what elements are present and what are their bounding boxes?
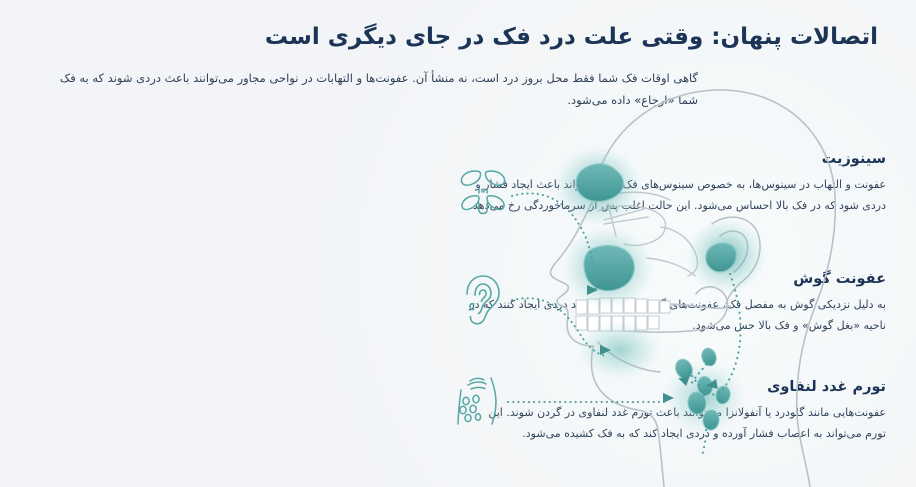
facial-bone-lines [598, 192, 697, 278]
inbound-arrowheads [587, 285, 674, 403]
referral-paths [690, 274, 741, 456]
ear-outline [712, 217, 760, 304]
hotspot-blobs [576, 164, 736, 291]
mandible-outline [593, 287, 730, 372]
blob-ear-tmj [706, 243, 736, 272]
page-title: اتصالات پنهان: وقتی علت درد فک در جای دی… [38, 22, 878, 53]
glow-upper-jaw [578, 320, 662, 380]
glow-maxillary-sinus [562, 226, 654, 310]
glow-cervical-nodes [662, 360, 746, 436]
glow-frontal-sinus [554, 146, 642, 226]
glow-ear-tmj [686, 218, 766, 294]
head-anatomy-diagram [498, 78, 916, 487]
blob-maxillary-sinus [584, 246, 634, 291]
skull-outline [551, 90, 836, 487]
hotspot-glows [554, 146, 766, 436]
infographic-page: اتصالات پنهان: وقتی علت درد فک در جای دی… [0, 0, 916, 487]
referral-arrowheads [677, 374, 718, 391]
teeth [576, 298, 670, 331]
blob-frontal-sinus [576, 164, 623, 202]
cervical-lymph-nodes [673, 346, 732, 430]
